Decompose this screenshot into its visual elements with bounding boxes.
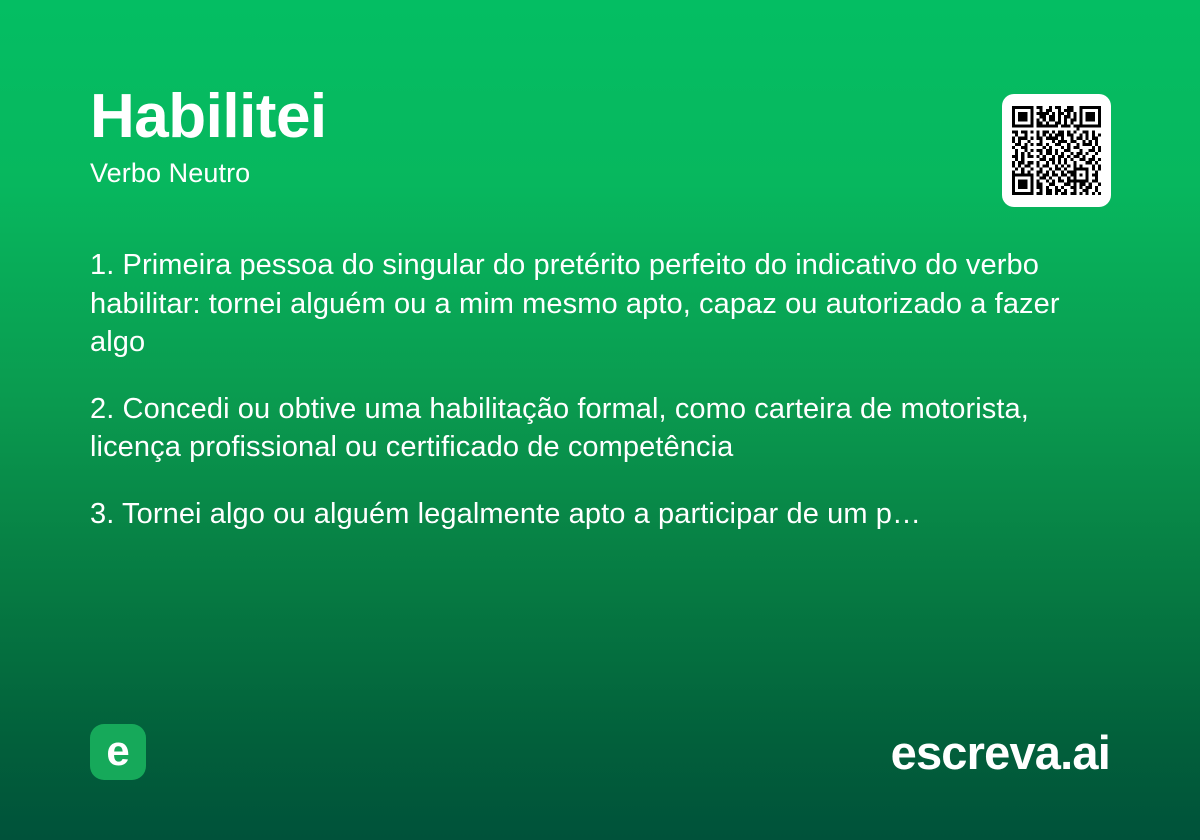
dictionary-definition-card: Habilitei Verbo Neutro <box>0 0 1200 840</box>
definition-item: 3. Tornei algo ou alguém legalmente apto… <box>90 495 1095 534</box>
page-title: Habilitei <box>90 86 1110 148</box>
qr-code-card[interactable] <box>1002 94 1111 207</box>
brand-wordmark: escreva.ai <box>891 725 1110 781</box>
card-header: Habilitei Verbo Neutro <box>90 86 1110 187</box>
definition-item: 1. Primeira pessoa do singular do pretér… <box>90 246 1095 362</box>
qr-code-icon <box>1012 106 1101 195</box>
definitions-list: 1. Primeira pessoa do singular do pretér… <box>90 246 1095 533</box>
definition-item: 2. Concedi ou obtive uma habilitação for… <box>90 390 1095 467</box>
logo-e-glyph: e <box>106 730 129 772</box>
escreva-logo-badge: e <box>90 724 146 780</box>
word-class-subtitle: Verbo Neutro <box>90 160 1110 187</box>
